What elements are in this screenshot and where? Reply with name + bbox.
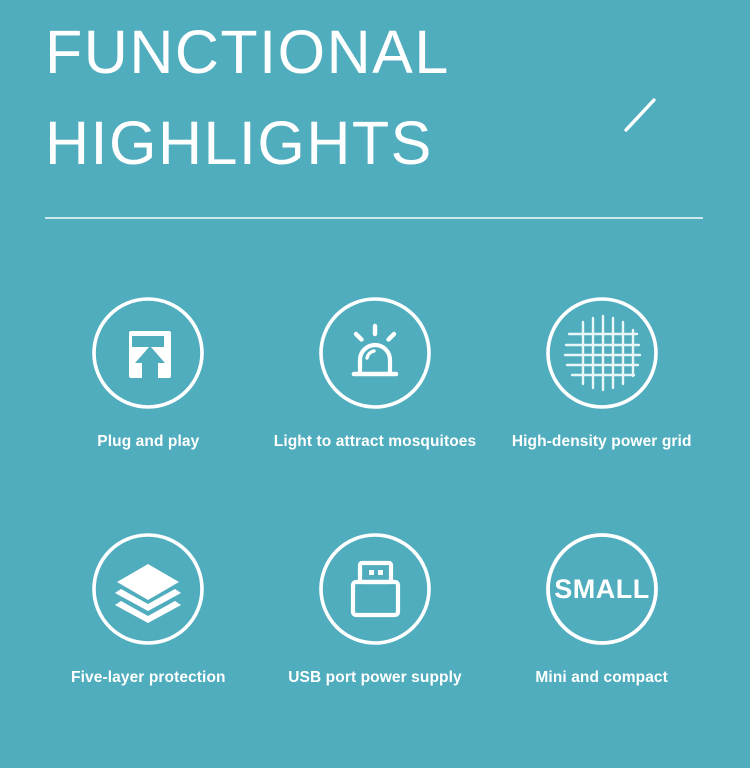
feature-label: Light to attract mosquitoes xyxy=(274,432,476,451)
feature-item-attract-light: Light to attract mosquitoes xyxy=(262,296,489,532)
feature-label: Plug and play xyxy=(97,432,199,451)
page-title-line-2: HIGHLIGHTS xyxy=(45,107,705,180)
usb-drive-icon xyxy=(318,532,432,646)
small-text-icon: SMALL xyxy=(545,532,659,646)
feature-item-usb-power: USB port power supply xyxy=(262,532,489,768)
functional-highlights-poster: FUNCTIONAL HIGHLIGHTS Plug and play xyxy=(0,0,750,750)
small-text-icon-label: SMALL xyxy=(554,574,649,604)
feature-grid: Plug and play Light to attract mosquitoe… xyxy=(35,296,715,768)
feature-label: Five-layer protection xyxy=(71,668,226,687)
feature-label: USB port power supply xyxy=(288,668,461,687)
layers-stack-icon xyxy=(91,532,205,646)
page-title-line-1: FUNCTIONAL xyxy=(45,16,705,89)
feature-label: High-density power grid xyxy=(512,432,692,451)
plug-and-play-icon xyxy=(91,296,205,410)
feature-item-mini-compact: SMALL Mini and compact xyxy=(488,532,715,768)
feature-item-power-grid: High-density power grid xyxy=(488,296,715,532)
header-divider xyxy=(45,217,703,219)
feature-item-plug-and-play: Plug and play xyxy=(35,296,262,532)
feature-label: Mini and compact xyxy=(535,668,668,687)
feature-item-five-layer: Five-layer protection xyxy=(35,532,262,768)
grid-mesh-icon xyxy=(545,296,659,410)
alarm-light-icon xyxy=(318,296,432,410)
header: FUNCTIONAL HIGHLIGHTS xyxy=(45,16,705,180)
